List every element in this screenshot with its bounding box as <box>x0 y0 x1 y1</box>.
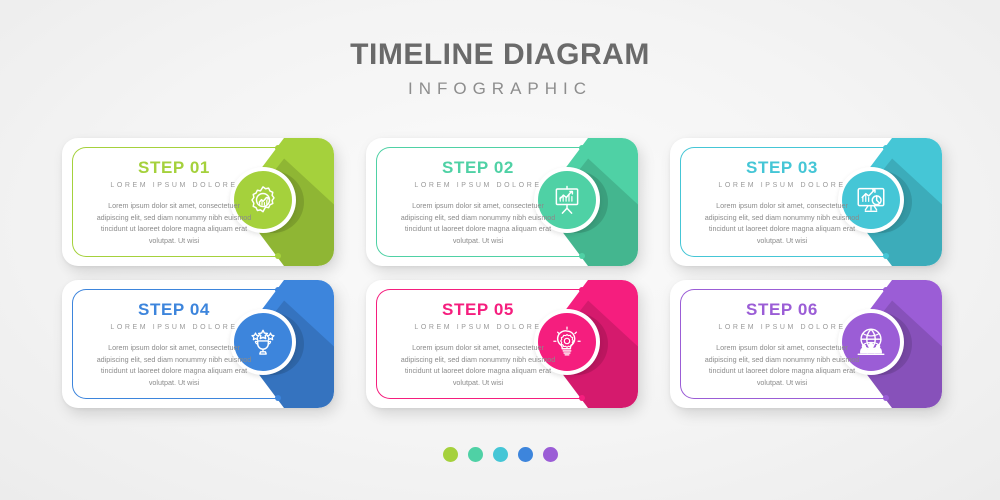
infographic-canvas: TIMELINE DIAGRAM INFOGRAPHIC STEP 01 LOR… <box>0 0 1000 500</box>
outline-dot-bottom <box>579 253 585 259</box>
step-body-text: Lorem ipsum dolor sit amet, consectetuer… <box>686 342 878 389</box>
step-card[interactable]: STEP 01 LOREM IPSUM DOLORE Lorem ipsum d… <box>62 138 334 266</box>
legend-dot[interactable] <box>443 447 458 462</box>
step-card[interactable]: STEP 05 LOREM IPSUM DOLORE Lorem ipsum d… <box>366 280 638 408</box>
legend-dot[interactable] <box>468 447 483 462</box>
step-body-text: Lorem ipsum dolor sit amet, consectetuer… <box>686 200 878 247</box>
step-subtitle: LOREM IPSUM DOLORE <box>382 324 574 331</box>
legend-dot[interactable] <box>493 447 508 462</box>
outline-dot-bottom <box>883 253 889 259</box>
step-content: STEP 02 LOREM IPSUM DOLORE Lorem ipsum d… <box>382 158 574 247</box>
step-card[interactable]: STEP 02 LOREM IPSUM DOLORE Lorem ipsum d… <box>366 138 638 266</box>
legend-dot[interactable] <box>543 447 558 462</box>
outline-dot-top <box>883 287 889 293</box>
step-content: STEP 01 LOREM IPSUM DOLORE Lorem ipsum d… <box>78 158 270 247</box>
step-content: STEP 03 LOREM IPSUM DOLORE Lorem ipsum d… <box>686 158 878 247</box>
outline-dot-bottom <box>275 395 281 401</box>
outline-dot-top <box>579 287 585 293</box>
legend-dots <box>0 447 1000 462</box>
step-body-text: Lorem ipsum dolor sit amet, consectetuer… <box>78 200 270 247</box>
step-card[interactable]: STEP 03 LOREM IPSUM DOLORE Lorem ipsum d… <box>670 138 942 266</box>
step-subtitle: LOREM IPSUM DOLORE <box>78 324 270 331</box>
header: TIMELINE DIAGRAM INFOGRAPHIC <box>0 38 1000 99</box>
outline-dot-top <box>275 145 281 151</box>
step-title: STEP 04 <box>78 300 270 320</box>
outline-dot-top <box>883 145 889 151</box>
step-body-text: Lorem ipsum dolor sit amet, consectetuer… <box>382 200 574 247</box>
step-title: STEP 02 <box>382 158 574 178</box>
outline-dot-bottom <box>275 253 281 259</box>
step-subtitle: LOREM IPSUM DOLORE <box>686 182 878 189</box>
step-title: STEP 01 <box>78 158 270 178</box>
step-content: STEP 04 LOREM IPSUM DOLORE Lorem ipsum d… <box>78 300 270 389</box>
step-body-text: Lorem ipsum dolor sit amet, consectetuer… <box>382 342 574 389</box>
steps-grid: STEP 01 LOREM IPSUM DOLORE Lorem ipsum d… <box>62 138 942 408</box>
outline-dot-top <box>275 287 281 293</box>
step-content: STEP 06 LOREM IPSUM DOLORE Lorem ipsum d… <box>686 300 878 389</box>
step-title: STEP 05 <box>382 300 574 320</box>
step-content: STEP 05 LOREM IPSUM DOLORE Lorem ipsum d… <box>382 300 574 389</box>
page-subtitle: INFOGRAPHIC <box>0 79 1000 99</box>
outline-dot-bottom <box>883 395 889 401</box>
step-subtitle: LOREM IPSUM DOLORE <box>382 182 574 189</box>
step-body-text: Lorem ipsum dolor sit amet, consectetuer… <box>78 342 270 389</box>
step-card[interactable]: STEP 04 LOREM IPSUM DOLORE Lorem ipsum d… <box>62 280 334 408</box>
legend-dot[interactable] <box>518 447 533 462</box>
step-card[interactable]: STEP 06 LOREM IPSUM DOLORE Lorem ipsum d… <box>670 280 942 408</box>
step-subtitle: LOREM IPSUM DOLORE <box>78 182 270 189</box>
step-subtitle: LOREM IPSUM DOLORE <box>686 324 878 331</box>
page-title: TIMELINE DIAGRAM <box>0 38 1000 72</box>
outline-dot-bottom <box>579 395 585 401</box>
outline-dot-top <box>579 145 585 151</box>
step-title: STEP 03 <box>686 158 878 178</box>
step-title: STEP 06 <box>686 300 878 320</box>
